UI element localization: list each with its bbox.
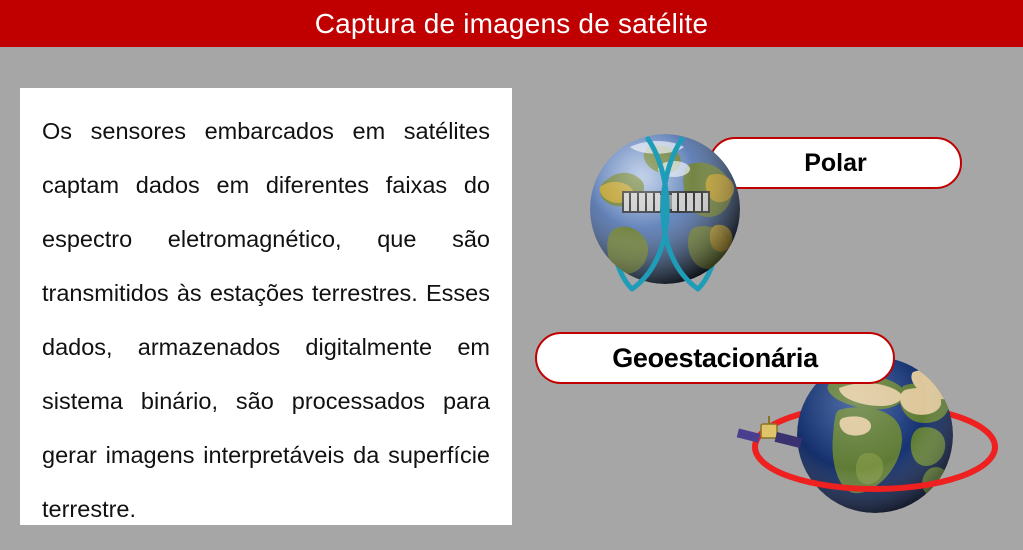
text-panel: Os sensores embarcados em satélites capt…	[20, 88, 512, 525]
polar-globe-svg	[570, 117, 760, 302]
geostationary-satellite	[737, 416, 802, 448]
geostationary-orbit-group: Geoestacionária	[520, 327, 1023, 550]
illustrations-column: Polar	[520, 47, 1023, 550]
polar-label-text: Polar	[804, 151, 867, 176]
page-title: Captura de imagens de satélite	[315, 10, 709, 38]
geostationary-label-text: Geoestacionária	[612, 345, 818, 372]
body-paragraph: Os sensores embarcados em satélites capt…	[42, 104, 490, 536]
slide-title-bar: Captura de imagens de satélite	[0, 0, 1023, 47]
polar-globe-illustration	[570, 117, 760, 302]
geostationary-label-badge[interactable]: Geoestacionária	[535, 332, 895, 384]
polar-orbit-group: Polar	[520, 80, 1023, 295]
